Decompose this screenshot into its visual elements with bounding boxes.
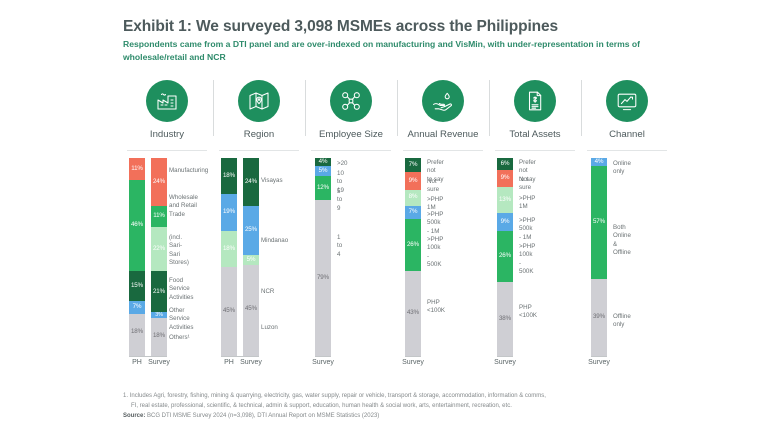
- bar-segment[interactable]: 26%: [497, 231, 513, 282]
- bar-segment[interactable]: 7%: [129, 301, 145, 315]
- panel-divider: [403, 150, 483, 151]
- panel-title-channel: Channel: [609, 129, 645, 140]
- segment-value-label: 7%: [409, 209, 418, 215]
- bar-group: 6%9%13%9%26%38%: [497, 158, 513, 356]
- bar-segment[interactable]: 9%: [405, 172, 421, 190]
- segment-value-label: 6%: [501, 161, 510, 167]
- category-label: (incl. Sari-Sari Stores): [169, 234, 189, 267]
- segment-value-label: 18%: [131, 329, 143, 335]
- axis-baseline: [497, 356, 513, 357]
- page-title: Exhibit 1: We surveyed 3,098 MSMEs acros…: [123, 18, 558, 36]
- page-subtitle: Respondents came from a DTI panel and ar…: [123, 38, 643, 65]
- map-icon: [238, 80, 280, 122]
- axis-baseline: [129, 356, 167, 357]
- category-label: Wholesale and Retail Trade: [169, 194, 198, 219]
- panel-divider: [495, 150, 575, 151]
- bar-axis-caption: Survey: [399, 359, 427, 366]
- bar-group: 7%9%8%7%26%43%: [405, 158, 421, 356]
- panel-industry: Industry11%46%15%7%18%24%11%22%21%3%18%P…: [121, 78, 213, 378]
- bar-segment[interactable]: 9%: [497, 170, 513, 188]
- bar-segment[interactable]: 4%: [591, 158, 607, 166]
- category-label: >PHP 1M: [519, 195, 535, 212]
- bar-segment[interactable]: 22%: [151, 227, 167, 271]
- category-label: >PHP 100k - 500K: [427, 236, 443, 269]
- segment-value-label: 24%: [153, 179, 165, 185]
- category-label: >PHP 500k - 1M: [519, 217, 535, 242]
- bar-axis-caption: Survey: [309, 359, 337, 366]
- bar-group: 4%57%39%: [591, 158, 607, 356]
- panel-divider: [127, 150, 207, 151]
- panel-title-annual_revenue: Annual Revenue: [408, 129, 479, 140]
- category-label: Manufacturing: [169, 167, 208, 175]
- segment-value-label: 13%: [499, 197, 511, 203]
- document-dollar-icon: [514, 80, 556, 122]
- footnote-number: 1.: [123, 393, 128, 399]
- bar-segment[interactable]: 11%: [129, 158, 145, 180]
- footnote-1: 1. Includes Agri, forestry, fishing, min…: [123, 392, 668, 411]
- chart-industry: 11%46%15%7%18%24%11%22%21%3%18%PHSurveyM…: [121, 158, 213, 378]
- stacked-bar[interactable]: 11%46%15%7%18%: [129, 158, 145, 356]
- category-label: >PHP 500k - 1M: [427, 211, 443, 236]
- segment-value-label: 12%: [317, 185, 329, 191]
- segment-value-label: 18%: [223, 173, 235, 179]
- monitor-icon: [606, 80, 648, 122]
- source-text: BCG DTI MSME Survey 2024 (n=3,098), DTI …: [147, 413, 379, 419]
- stacked-bar[interactable]: 4%5%12%79%: [315, 158, 331, 356]
- segment-value-label: 15%: [131, 283, 143, 289]
- segment-value-label: 46%: [131, 222, 143, 228]
- category-label: >PHP 100k - 500K: [519, 243, 535, 276]
- category-label: Visayas: [261, 177, 283, 185]
- segment-value-label: 25%: [245, 227, 257, 233]
- chart-channel: 4%57%39%SurveyOnline onlyBoth Online & O…: [581, 158, 673, 378]
- source-label: Source:: [123, 413, 145, 419]
- segment-value-label: 9%: [501, 219, 510, 225]
- segment-value-label: 3%: [155, 313, 163, 318]
- segment-value-label: 11%: [153, 213, 165, 219]
- axis-baseline: [221, 356, 259, 357]
- category-label: 1 to 4: [337, 234, 342, 259]
- bar-segment[interactable]: 7%: [405, 206, 421, 220]
- bar-segment[interactable]: 45%: [221, 267, 237, 356]
- segment-value-label: 18%: [153, 333, 165, 339]
- bar-segment[interactable]: 6%: [497, 158, 513, 170]
- bar-segment[interactable]: 9%: [497, 213, 513, 231]
- chart-region: 18%19%18%45%24%25%5%45%PHSurveyVisayasMi…: [213, 158, 305, 378]
- category-label: >20: [337, 160, 348, 168]
- segment-value-label: 9%: [409, 178, 418, 184]
- chart-employee_size: 4%5%12%79%Survey>2010 to 195 to 91 to 4: [305, 158, 397, 378]
- stacked-bar[interactable]: 4%57%39%: [591, 158, 607, 356]
- bar-segment[interactable]: 79%: [315, 200, 331, 356]
- segment-value-label: 8%: [409, 194, 418, 200]
- panel-employee_size: Employee Size4%5%12%79%Survey>2010 to 19…: [305, 78, 397, 378]
- source-line: Source: BCG DTI MSME Survey 2024 (n=3,09…: [123, 412, 668, 422]
- bar-segment[interactable]: 45%: [243, 265, 259, 354]
- category-label: Not sure: [427, 178, 439, 195]
- chart-total_assets: 6%9%13%9%26%38%SurveyPrefer not to sayNo…: [489, 158, 581, 378]
- category-label: Mindanao: [261, 237, 288, 245]
- bar-segment[interactable]: 4%: [315, 158, 331, 166]
- bar-segment[interactable]: 24%: [243, 158, 259, 206]
- segment-value-label: 45%: [223, 308, 235, 314]
- bar-segment[interactable]: 13%: [497, 187, 513, 212]
- panel-annual_revenue: Annual Revenue7%9%8%7%26%43%SurveyPrefer…: [397, 78, 489, 378]
- stacked-bar[interactable]: 6%9%13%9%26%38%: [497, 158, 513, 356]
- segment-value-label: 26%: [499, 253, 511, 259]
- bar-segment[interactable]: 21%: [151, 271, 167, 313]
- segment-value-label: 39%: [593, 314, 605, 320]
- segment-value-label: 79%: [317, 275, 329, 281]
- segment-value-label: 9%: [501, 175, 510, 181]
- stacked-bar[interactable]: 18%19%18%45%: [221, 158, 237, 356]
- bar-segment[interactable]: 25%: [243, 206, 259, 256]
- bar-axis-caption: Survey: [145, 359, 173, 366]
- bar-segment[interactable]: 7%: [405, 158, 421, 172]
- bar-segment[interactable]: 57%: [591, 166, 607, 279]
- bar-segment[interactable]: 12%: [315, 176, 331, 200]
- factory-icon: [146, 80, 188, 122]
- stacked-bar[interactable]: 24%11%22%21%3%18%: [151, 158, 167, 356]
- segment-value-label: 5%: [247, 257, 256, 263]
- bar-group: 4%5%12%79%: [315, 158, 331, 356]
- segment-value-label: 19%: [223, 209, 235, 215]
- org-network-icon: [330, 80, 372, 122]
- segment-value-label: 43%: [407, 310, 419, 316]
- footnote-text-line2: FI, real estate, professional, scientifi…: [123, 402, 668, 412]
- bar-segment[interactable]: 43%: [405, 271, 421, 356]
- category-label: Not sure: [519, 176, 531, 193]
- bar-segment[interactable]: 19%: [221, 194, 237, 232]
- stacked-bar[interactable]: 24%25%5%45%: [243, 158, 259, 356]
- bar-group: 11%46%15%7%18%24%11%22%21%3%18%: [129, 158, 167, 356]
- panel-title-total_assets: Total Assets: [509, 129, 560, 140]
- bar-segment[interactable]: 15%: [129, 271, 145, 301]
- footnotes: 1. Includes Agri, forestry, fishing, min…: [123, 392, 668, 422]
- bar-segment[interactable]: 18%: [221, 231, 237, 267]
- bar-segment[interactable]: 5%: [315, 166, 331, 176]
- panel-title-employee_size: Employee Size: [319, 129, 383, 140]
- category-label: Luzon: [261, 324, 278, 332]
- bar-segment[interactable]: 26%: [405, 219, 421, 270]
- bar-segment[interactable]: 18%: [221, 158, 237, 194]
- bar-segment[interactable]: 24%: [151, 158, 167, 206]
- segment-value-label: 38%: [499, 316, 511, 322]
- category-label: Other Service Activities: [169, 307, 193, 332]
- bar-group: 18%19%18%45%24%25%5%45%: [221, 158, 259, 356]
- panel-region: Region18%19%18%45%24%25%5%45%PHSurveyVis…: [213, 78, 305, 378]
- segment-value-label: 18%: [223, 246, 235, 252]
- category-label: PHP <100K: [427, 299, 445, 316]
- bar-segment[interactable]: 5%: [243, 255, 259, 265]
- category-label: Food Service Activities: [169, 277, 193, 302]
- segment-value-label: 57%: [593, 219, 605, 225]
- panel-total_assets: Total Assets6%9%13%9%26%38%SurveyPrefer …: [489, 78, 581, 378]
- bar-axis-caption: Survey: [491, 359, 519, 366]
- bar-segment[interactable]: 18%: [129, 314, 145, 350]
- panel-divider: [587, 150, 667, 151]
- segment-value-label: 45%: [245, 306, 257, 312]
- axis-baseline: [591, 356, 607, 357]
- category-label: 5 to 9: [337, 188, 342, 213]
- segment-value-label: 26%: [407, 242, 419, 248]
- segment-value-label: 11%: [131, 166, 143, 172]
- axis-baseline: [315, 356, 331, 357]
- category-label: PHP <100K: [519, 304, 537, 321]
- bar-segment[interactable]: 18%: [151, 318, 167, 354]
- category-label: Online only: [613, 160, 631, 177]
- category-label: NCR: [261, 288, 274, 296]
- bar-axis-caption: Survey: [237, 359, 265, 366]
- slide-canvas: Exhibit 1: We surveyed 3,098 MSMEs acros…: [0, 0, 768, 432]
- category-label: Offline only: [613, 313, 631, 330]
- segment-value-label: 4%: [319, 159, 328, 165]
- bar-segment[interactable]: 46%: [129, 180, 145, 271]
- category-label: Others¹: [169, 334, 190, 342]
- bar-segment[interactable]: 38%: [497, 282, 513, 357]
- segment-value-label: 7%: [133, 304, 142, 310]
- panel-title-region: Region: [244, 129, 274, 140]
- segment-value-label: 24%: [245, 179, 257, 185]
- segment-value-label: 21%: [153, 289, 165, 295]
- hand-money-icon: [422, 80, 464, 122]
- panel-channel: Channel4%57%39%SurveyOnline onlyBoth Onl…: [581, 78, 673, 378]
- segment-value-label: 5%: [319, 168, 328, 174]
- stacked-bar[interactable]: 7%9%8%7%26%43%: [405, 158, 421, 356]
- axis-baseline: [405, 356, 421, 357]
- segment-value-label: 22%: [153, 246, 165, 252]
- chart-annual_revenue: 7%9%8%7%26%43%SurveyPrefer not to sayNot…: [397, 158, 489, 378]
- panel-title-industry: Industry: [150, 129, 184, 140]
- segment-value-label: 7%: [409, 162, 418, 168]
- footnote-text-line1: Includes Agri, forestry, fishing, mining…: [130, 393, 546, 399]
- segment-value-label: 4%: [595, 159, 604, 165]
- panel-divider: [311, 150, 391, 151]
- bar-segment[interactable]: 39%: [591, 279, 607, 356]
- panel-divider: [219, 150, 299, 151]
- bar-segment[interactable]: 11%: [151, 206, 167, 228]
- bar-axis-caption: Survey: [585, 359, 613, 366]
- bar-segment[interactable]: 8%: [405, 190, 421, 206]
- panels-container: Industry11%46%15%7%18%24%11%22%21%3%18%P…: [121, 78, 673, 378]
- category-label: Both Online & Offline: [613, 224, 631, 257]
